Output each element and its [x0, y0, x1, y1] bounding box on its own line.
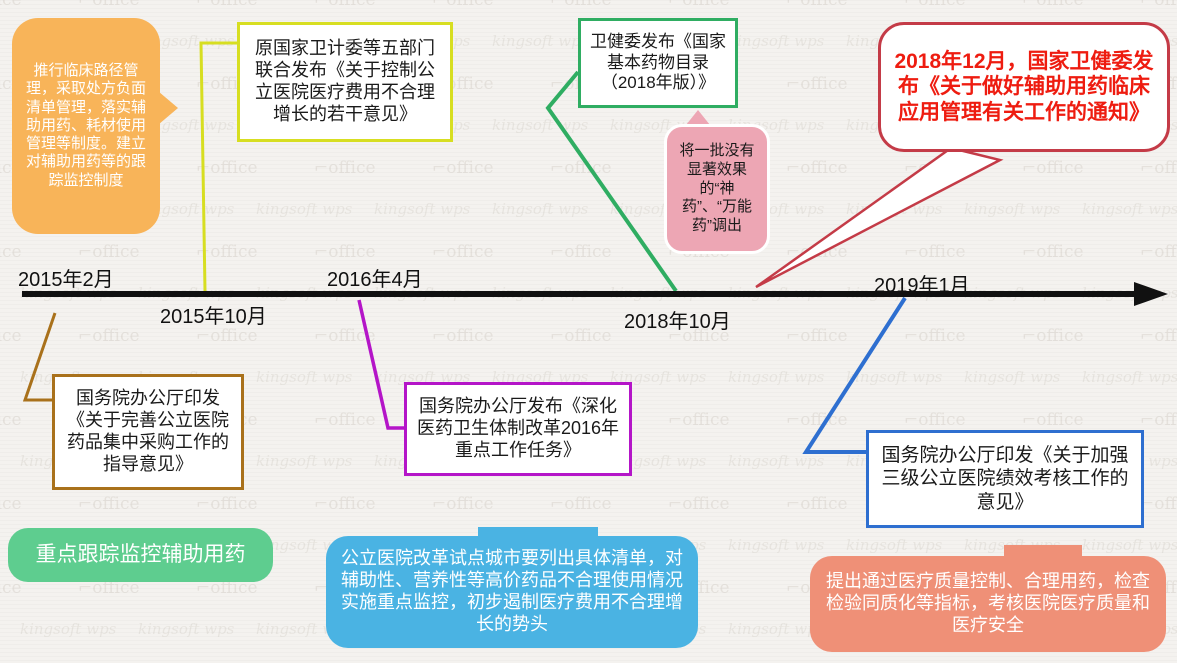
callout-orange-tail — [152, 86, 178, 130]
callout-yellow-policy-text: 原国家卫计委等五部门联合发布《关于控制公立医院医疗费用不合理增长的若干意见》 — [248, 38, 442, 126]
callout-purple-tasks[interactable]: 国务院办公厅发布《深化医药卫生体制改革2016年重点工作任务》 — [404, 382, 632, 476]
axis-label-2015-02: 2015年2月 — [18, 263, 114, 292]
callout-red-headline-text: 2018年12月，国家卫健委发布《关于做好辅助用药临床应用管理有关工作的通知》 — [891, 49, 1157, 126]
callout-brown-procurement[interactable]: 国务院办公厅印发《关于完善公立医院药品集中采购工作的指导意见》 — [52, 374, 244, 490]
callout-purple-tasks-text: 国务院办公厅发布《深化医药卫生体制改革2016年重点工作任务》 — [413, 396, 623, 462]
callout-pink-note[interactable]: 将一批没有显著效果的“神药”、“万能药”调出 — [664, 124, 770, 254]
callout-green-catalog[interactable]: 卫健委发布《国家基本药物目录（2018年版）》 — [578, 18, 738, 108]
axis-label-2016-04: 2016年4月 — [327, 263, 423, 292]
callout-blue-assessment-text: 国务院办公厅印发《关于加强三级公立医院绩效考核工作的意见》 — [877, 444, 1133, 514]
callout-salmon-quality-text: 提出通过医疗质量控制、合理用药，检查检验同质化等指标，考核医院医疗质量和医疗安全 — [820, 571, 1156, 637]
callout-blue-assessment[interactable]: 国务院办公厅印发《关于加强三级公立医院绩效考核工作的意见》 — [866, 430, 1144, 528]
callout-salmon-quality[interactable]: 提出通过医疗质量控制、合理用药，检查检验同质化等指标，考核医院医疗质量和医疗安全 — [810, 556, 1166, 652]
callout-red-headline[interactable]: 2018年12月，国家卫健委发布《关于做好辅助用药临床应用管理有关工作的通知》 — [878, 22, 1170, 152]
callout-cyan-pilot[interactable]: 公立医院改革试点城市要列出具体清单，对辅助性、营养性等高价药品不合理使用情况实施… — [326, 536, 698, 648]
callout-orange-measures-text: 推行临床路径管理，采取处方负面清单管理，落实辅助用药、耗材使用管理等制度。建立对… — [24, 62, 148, 190]
callout-orange-measures[interactable]: 推行临床路径管理，采取处方负面清单管理，落实辅助用药、耗材使用管理等制度。建立对… — [12, 18, 160, 234]
axis-label-2015-10: 2015年10月 — [160, 300, 267, 329]
callout-pink-note-text: 将一批没有显著效果的“神药”、“万能药”调出 — [675, 142, 759, 236]
axis-label-2018-10: 2018年10月 — [624, 305, 731, 334]
callout-brown-procurement-text: 国务院办公厅印发《关于完善公立医院药品集中采购工作的指导意见》 — [61, 388, 235, 476]
callout-cyan-pilot-text: 公立医院改革试点城市要列出具体清单，对辅助性、营养性等高价药品不合理使用情况实施… — [336, 548, 688, 636]
callout-green-tag-text: 重点跟踪监控辅助用药 — [18, 542, 263, 568]
callout-green-catalog-text: 卫健委发布《国家基本药物目录（2018年版）》 — [587, 32, 729, 94]
axis-label-2019-01: 2019年1月 — [874, 269, 970, 298]
callout-green-tag[interactable]: 重点跟踪监控辅助用药 — [8, 528, 273, 582]
timeline-slide: ⌐office⌐office⌐office⌐office⌐office⌐offi… — [0, 0, 1177, 663]
callout-yellow-policy[interactable]: 原国家卫计委等五部门联合发布《关于控制公立医院医疗费用不合理增长的若干意见》 — [237, 22, 453, 142]
